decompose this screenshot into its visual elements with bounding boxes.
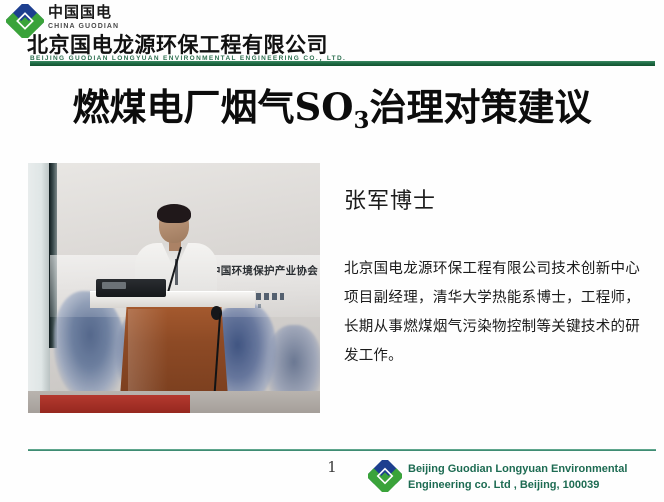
title-formula-subscript: 3 bbox=[353, 107, 369, 134]
podium-highlight bbox=[128, 309, 168, 395]
speaker-bio: 北京国电龙源环保工程有限公司技术创新中心项目副经理，清华大学热能系博士，工程师，… bbox=[344, 255, 640, 371]
slide-header: 中国国电 CHINA GUODIAN 北京国电龙源环保工程有限公司 BEIJIN… bbox=[0, 0, 664, 70]
brand-block: 中国国电 CHINA GUODIAN bbox=[48, 4, 119, 31]
slide-canvas: 中国国电 CHINA GUODIAN 北京国电龙源环保工程有限公司 BEIJIN… bbox=[0, 0, 664, 502]
title-part-1: 燃煤电厂烟气 bbox=[73, 86, 295, 129]
speaker-photo: 中国环境保护产业协会 bbox=[28, 163, 320, 413]
page-title: 燃煤电厂烟气SO3治理对策建议 bbox=[0, 84, 664, 136]
speaker-name: 张军博士 bbox=[344, 183, 436, 215]
footer-line-1: Beijing Guodian Longyuan Environmental bbox=[408, 462, 627, 478]
footer-divider bbox=[28, 449, 656, 451]
photo-left-screen bbox=[28, 163, 50, 413]
laptop-screen bbox=[102, 282, 126, 289]
page-number: 1 bbox=[322, 458, 342, 476]
footer-line-2: Engineering co. Ltd , Beijing, 100039 bbox=[408, 478, 627, 494]
footer-company-address: Beijing Guodian Longyuan Environmental E… bbox=[408, 462, 627, 493]
photo-red-carpet bbox=[40, 395, 190, 413]
backdrop-organization-text: 中国环境保护产业协会 bbox=[210, 263, 318, 278]
footer-guodian-diamond-logo-icon bbox=[368, 460, 402, 492]
title-formula-main: SO bbox=[295, 85, 354, 129]
header-divider bbox=[30, 61, 655, 66]
speaker-hair bbox=[157, 204, 191, 223]
brand-name-cn: 中国国电 bbox=[48, 4, 119, 21]
title-part-2: 治理对策建议 bbox=[369, 86, 591, 129]
